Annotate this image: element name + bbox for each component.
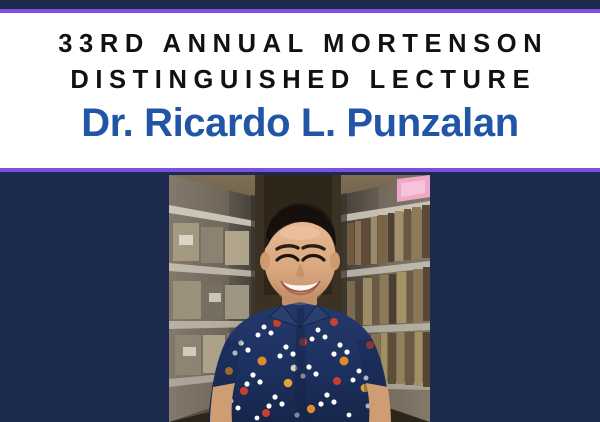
poster-header: 33RD ANNUAL MORTENSON DISTINGUISHED LECT… xyxy=(0,13,600,168)
top-navy-bar xyxy=(0,0,600,9)
bottom-purple-divider xyxy=(0,168,600,172)
event-title-line-2: DISTINGUISHED LECTURE xyxy=(64,63,536,97)
speaker-name: Dr. Ricardo L. Punzalan xyxy=(81,100,519,146)
event-title-line-1: 33RD ANNUAL MORTENSON xyxy=(52,27,548,61)
speaker-portrait-illustration xyxy=(169,175,430,422)
lecture-poster: 33RD ANNUAL MORTENSON DISTINGUISHED LECT… xyxy=(0,0,600,422)
speaker-photo xyxy=(169,175,430,422)
